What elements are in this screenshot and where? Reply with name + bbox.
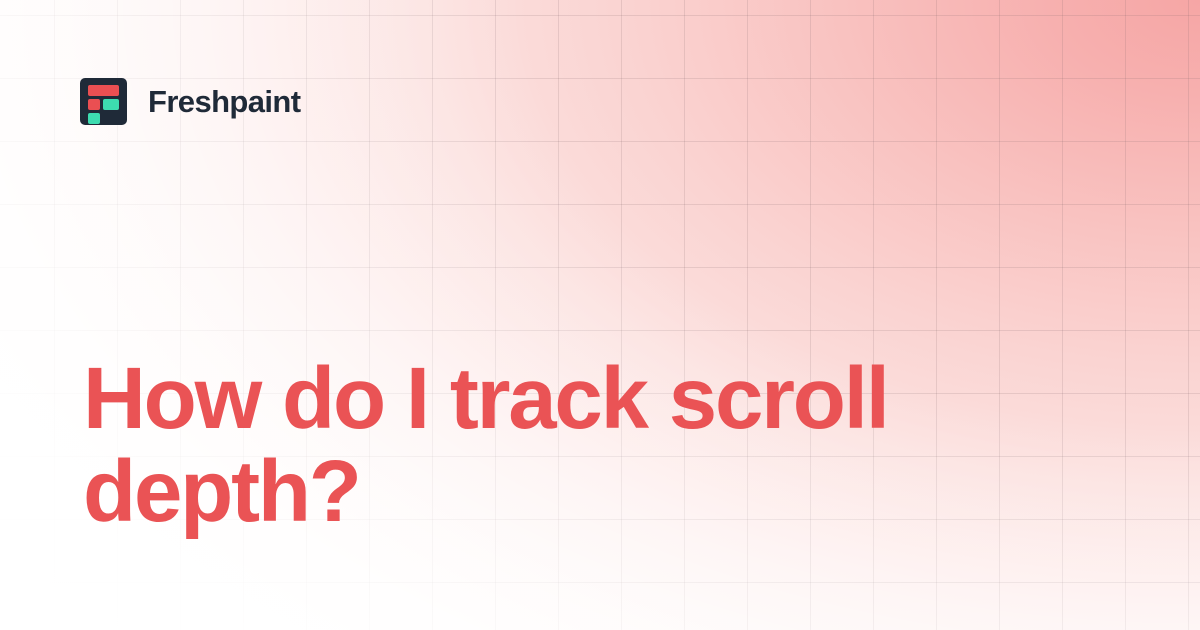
page-title: How do I track scroll depth? <box>83 352 983 538</box>
brand-lockup: Freshpaint <box>80 78 300 125</box>
logo-square-teal-bottom-icon <box>88 113 100 124</box>
brand-name: Freshpaint <box>148 86 300 117</box>
card-content: Freshpaint How do I track scroll depth? <box>0 0 1200 630</box>
og-card: Freshpaint How do I track scroll depth? <box>0 0 1200 630</box>
logo-bar-red-icon <box>88 85 119 96</box>
logo-square-red-icon <box>88 99 100 110</box>
logo-square-teal-right-icon <box>103 99 119 110</box>
freshpaint-logo-icon <box>80 78 127 125</box>
